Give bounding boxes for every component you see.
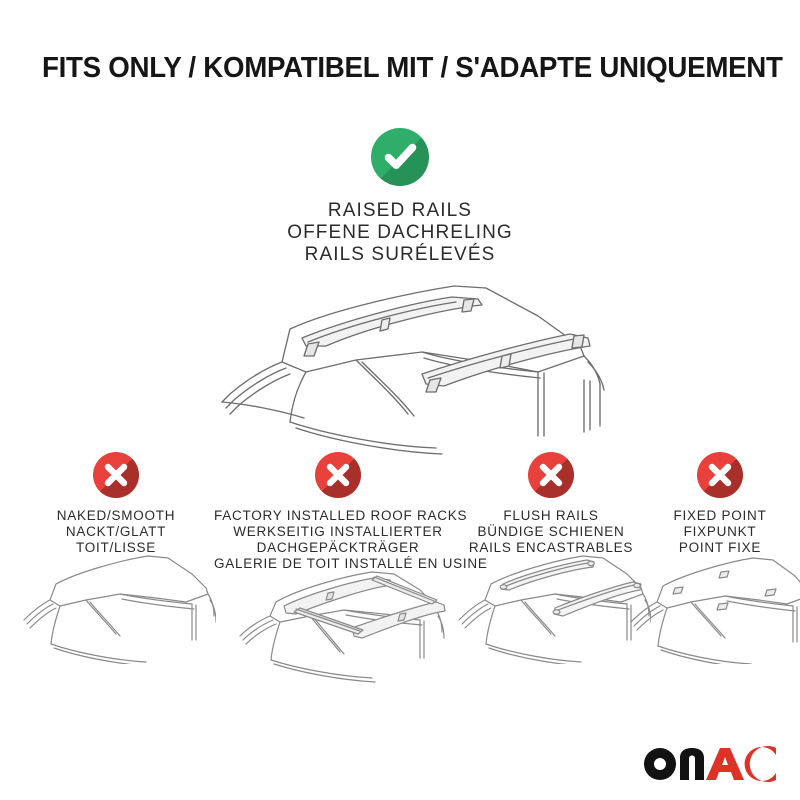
- approved-line-en: RAISED RAILS: [0, 200, 800, 222]
- logo-letter-o: [644, 748, 676, 780]
- logo-letter-a: [706, 748, 744, 780]
- x-circle-icon: [697, 452, 743, 498]
- car-roof-naked-smooth-illustration: [16, 544, 216, 664]
- logo-letter-m: [680, 748, 704, 780]
- rejected-item-fixed-point: FIXED POINT FIXPUNKT POINT FIXE: [640, 452, 800, 556]
- approved-line-de: OFFENE DACHRELING: [0, 222, 800, 244]
- approved-section: RAISED RAILS OFFENE DACHRELING RAILS SUR…: [0, 128, 800, 266]
- car-roof-with-raised-rails-illustration: [186, 276, 616, 456]
- omac-logo: [642, 746, 778, 782]
- rejected-line-de-1: WERKSEITIG INSTALLIERTER: [214, 524, 462, 540]
- rejected-line-de: FIXPUNKT: [640, 524, 800, 540]
- rejected-item-factory-roof-racks: FACTORY INSTALLED ROOF RACKS WERKSEITIG …: [214, 452, 462, 572]
- rejected-line-en: FLUSH RAILS: [458, 508, 644, 524]
- rejected-line-de-2: DACHGEPÄCKTRÄGER: [214, 540, 462, 556]
- logo-letter-c: [745, 746, 776, 782]
- x-circle-icon: [315, 452, 361, 498]
- x-circle-icon: [93, 452, 139, 498]
- x-circle-icon: [528, 452, 574, 498]
- rejected-item-naked-smooth: NAKED/SMOOTH NACKT/GLATT TOIT/LISSE: [18, 452, 214, 556]
- rejected-line-en: FIXED POINT: [640, 508, 800, 524]
- car-roof-with-factory-cross-bars-illustration: [222, 556, 454, 684]
- rejected-line-de: NACKT/GLATT: [18, 524, 214, 540]
- rejected-line-de: BÜNDIGE SCHIENEN: [458, 524, 644, 540]
- incompatible-sections: NAKED/SMOOTH NACKT/GLATT TOIT/LISSE: [0, 452, 800, 702]
- approved-line-fr: RAILS SURÉLEVÉS: [0, 244, 800, 266]
- rejected-line-en: NAKED/SMOOTH: [18, 508, 214, 524]
- rejected-line-en: FACTORY INSTALLED ROOF RACKS: [214, 508, 462, 524]
- approved-caption: RAISED RAILS OFFENE DACHRELING RAILS SUR…: [0, 200, 800, 266]
- car-roof-with-flush-rails-illustration: [451, 544, 651, 664]
- page-title: FITS ONLY / KOMPATIBEL MIT / S'ADAPTE UN…: [42, 52, 783, 85]
- rejected-item-flush-rails: FLUSH RAILS BÜNDIGE SCHIENEN RAILS ENCAS…: [458, 452, 644, 556]
- check-circle-icon: [371, 128, 429, 186]
- car-roof-with-fixed-points-illustration: [625, 544, 800, 664]
